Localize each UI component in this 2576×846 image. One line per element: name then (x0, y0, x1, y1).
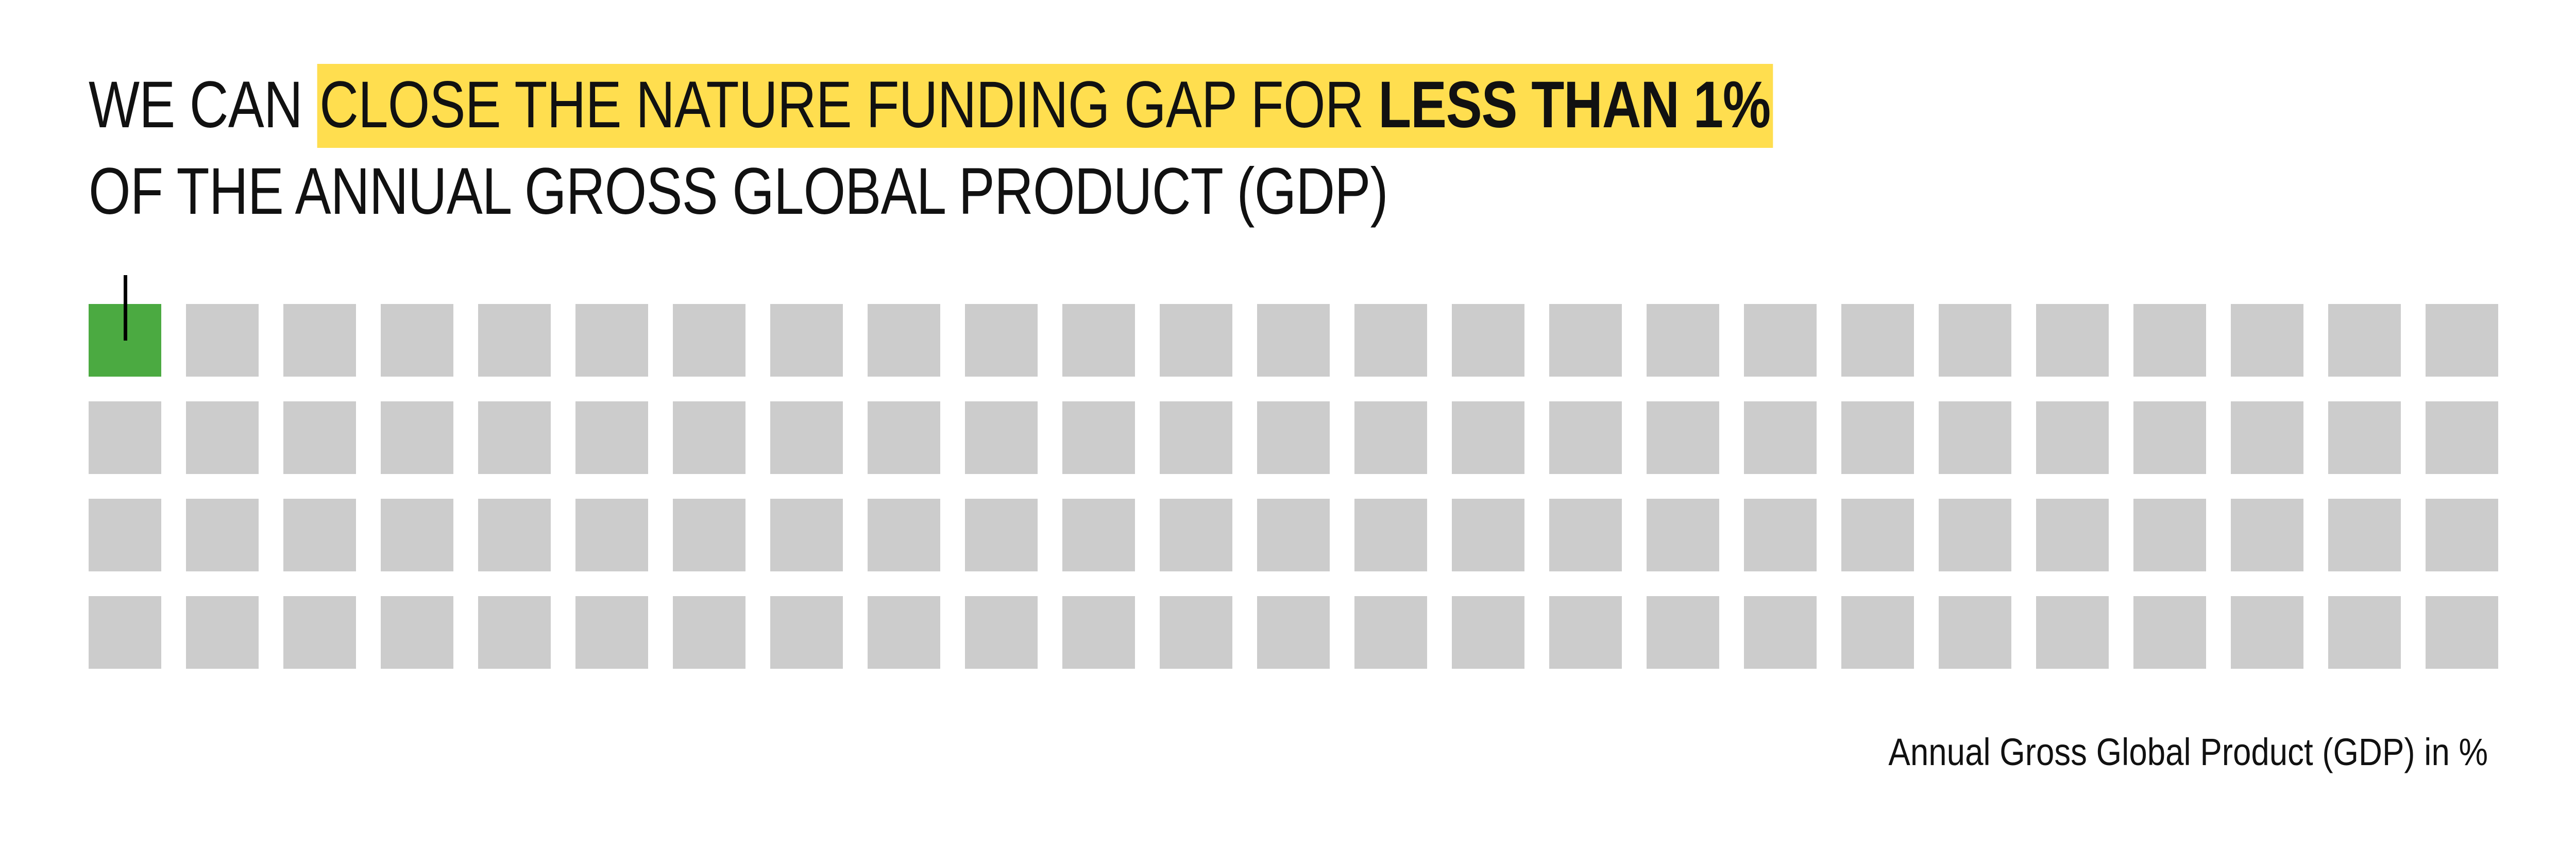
unit-square (89, 596, 161, 669)
unit-square (381, 401, 453, 474)
unit-square (1354, 499, 1427, 571)
headline-line-2: OF THE ANNUAL GROSS GLOBAL PRODUCT (GDP) (89, 148, 2057, 235)
unit-square (283, 499, 356, 571)
unit-square (673, 304, 745, 377)
unit-square (868, 401, 940, 474)
unit-square (186, 401, 259, 474)
unit-square (770, 401, 843, 474)
headline-highlight-segment: CLOSE THE NATURE FUNDING GAP FOR LESS TH… (317, 64, 1773, 148)
unit-square (1452, 304, 1524, 377)
unit-square (2036, 596, 2109, 669)
unit-square (1549, 596, 1622, 669)
unit-square (1452, 596, 1524, 669)
unit-square (575, 401, 648, 474)
unit-square (2328, 596, 2401, 669)
unit-square (2328, 401, 2401, 474)
unit-square (1939, 596, 2011, 669)
unit-square (283, 304, 356, 377)
unit-square (1939, 304, 2011, 377)
unit-square (965, 401, 1038, 474)
unit-square (1744, 304, 1817, 377)
unit-square (478, 401, 551, 474)
unit-square (1549, 499, 1622, 571)
unit-square (2133, 499, 2206, 571)
unit-square (965, 499, 1038, 571)
unit-square (1354, 304, 1427, 377)
unit-square-highlighted (89, 304, 161, 377)
unit-square (2231, 304, 2303, 377)
unit-square (1647, 401, 1719, 474)
unit-square (2231, 401, 2303, 474)
unit-square-row (89, 401, 2489, 474)
unit-square (2231, 596, 2303, 669)
unit-square (1841, 401, 1914, 474)
unit-square (1160, 401, 1232, 474)
unit-square (381, 596, 453, 669)
unit-square (381, 499, 453, 571)
unit-square (1452, 401, 1524, 474)
leader-line-marker (124, 275, 127, 341)
unit-square (1549, 401, 1622, 474)
unit-square (1062, 596, 1135, 669)
unit-square (1354, 596, 1427, 669)
unit-square (575, 596, 648, 669)
unit-square (1744, 401, 1817, 474)
unit-square (478, 499, 551, 571)
unit-square (2036, 499, 2109, 571)
unit-square (2426, 499, 2498, 571)
unit-square (2426, 304, 2498, 377)
unit-square (1062, 304, 1135, 377)
unit-square (1841, 596, 1914, 669)
unit-square (673, 596, 745, 669)
unit-square (2231, 499, 2303, 571)
unit-square (89, 401, 161, 474)
unit-square (1744, 596, 1817, 669)
unit-square (2328, 304, 2401, 377)
unit-square (575, 499, 648, 571)
unit-square (673, 499, 745, 571)
unit-square (1160, 304, 1232, 377)
unit-square (186, 596, 259, 669)
unit-square (1744, 499, 1817, 571)
unit-square (186, 499, 259, 571)
unit-square (1452, 499, 1524, 571)
unit-square (1647, 304, 1719, 377)
unit-square-row (89, 596, 2489, 669)
unit-square (1257, 304, 1330, 377)
unit-square (1160, 596, 1232, 669)
unit-square (283, 401, 356, 474)
unit-square (1062, 499, 1135, 571)
unit-square (770, 499, 843, 571)
unit-square (868, 596, 940, 669)
unit-square (1841, 499, 1914, 571)
unit-square (478, 304, 551, 377)
unit-square (2133, 401, 2206, 474)
unit-square (1257, 499, 1330, 571)
unit-square (673, 401, 745, 474)
unit-square (1841, 304, 1914, 377)
unit-square (965, 596, 1038, 669)
headline-plain-text: WE CAN (89, 68, 317, 142)
unit-square (186, 304, 259, 377)
unit-square-grid (89, 304, 2489, 669)
unit-square (478, 596, 551, 669)
unit-square (2133, 304, 2206, 377)
headline-line-1: WE CAN CLOSE THE NATURE FUNDING GAP FOR … (89, 62, 2057, 148)
unit-square (770, 304, 843, 377)
unit-square (1939, 499, 2011, 571)
unit-square (1939, 401, 2011, 474)
unit-square (283, 596, 356, 669)
unit-square (2426, 401, 2498, 474)
unit-square (1647, 499, 1719, 571)
unit-square (1062, 401, 1135, 474)
headline-highlight-normal: CLOSE THE NATURE FUNDING GAP FOR (319, 68, 1378, 142)
unit-square (381, 304, 453, 377)
unit-square (89, 499, 161, 571)
unit-square (770, 596, 843, 669)
unit-square (1647, 596, 1719, 669)
unit-square (868, 499, 940, 571)
unit-square-row (89, 304, 2489, 377)
unit-square (575, 304, 648, 377)
unit-square (2328, 499, 2401, 571)
unit-square (2133, 596, 2206, 669)
headline-block: WE CAN CLOSE THE NATURE FUNDING GAP FOR … (89, 62, 2489, 235)
unit-square (1257, 401, 1330, 474)
unit-square-row (89, 499, 2489, 571)
headline-highlight-bold: LESS THAN 1% (1378, 68, 1770, 142)
unit-square (1160, 499, 1232, 571)
unit-square (2426, 596, 2498, 669)
unit-square (1549, 304, 1622, 377)
unit-square (2036, 304, 2109, 377)
unit-square (965, 304, 1038, 377)
chart-caption: Annual Gross Global Product (GDP) in % (1888, 731, 2488, 774)
unit-square (2036, 401, 2109, 474)
unit-square (1354, 401, 1427, 474)
unit-square (1257, 596, 1330, 669)
unit-square (868, 304, 940, 377)
